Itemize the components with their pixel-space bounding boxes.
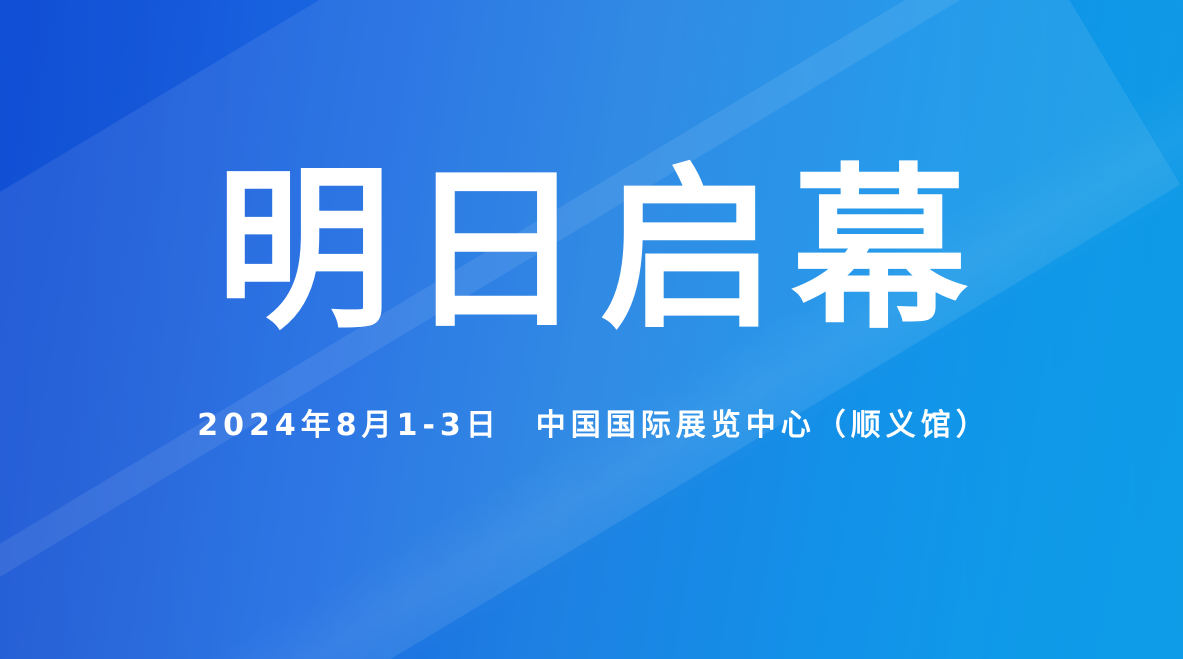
event-announcement-banner: 明日启幕 2024年8月1-3日 中国国际展览中心（顺义馆）: [0, 0, 1183, 659]
banner-content: 明日启幕 2024年8月1-3日 中国国际展览中心（顺义馆）: [0, 0, 1183, 659]
banner-subtitle: 2024年8月1-3日 中国国际展览中心（顺义馆）: [192, 411, 991, 441]
banner-headline: 明日启幕: [199, 163, 983, 339]
